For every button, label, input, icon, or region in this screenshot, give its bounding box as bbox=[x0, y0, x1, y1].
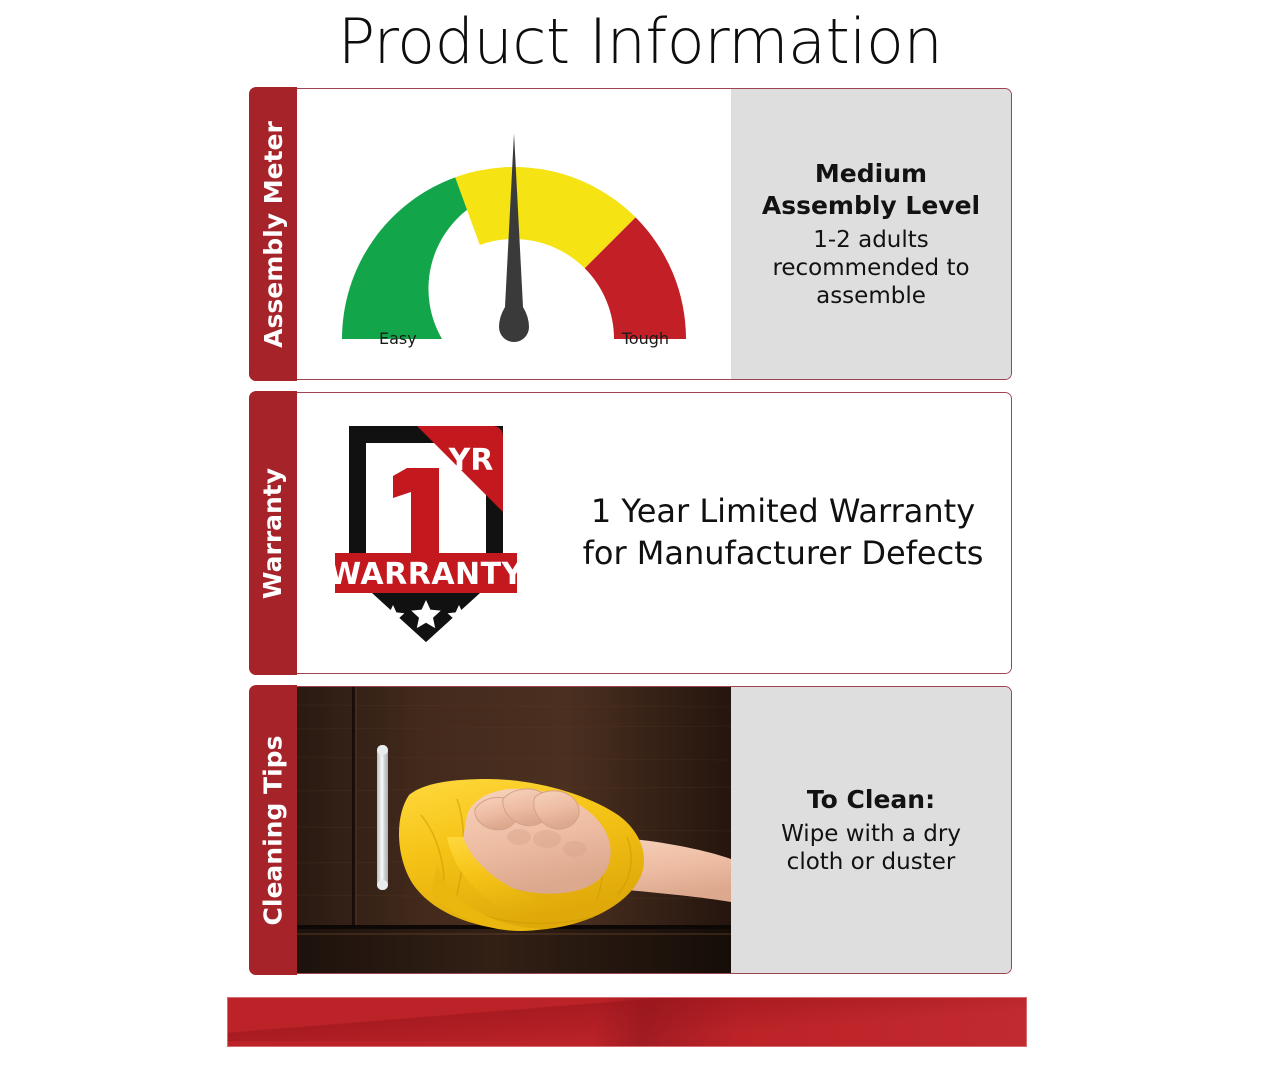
warranty-badge-unit: YR bbox=[448, 443, 494, 478]
assembly-gauge-panel: Easy Tough bbox=[297, 89, 731, 379]
sidebar-tab-assembly-meter: Assembly Meter bbox=[249, 87, 297, 381]
assembly-gauge-chart bbox=[314, 111, 714, 361]
gauge-label-easy: Easy bbox=[379, 329, 417, 348]
cleaning-photo bbox=[297, 687, 731, 973]
cleaning-heading: To Clean: bbox=[807, 784, 935, 816]
assembly-card-body: Easy Tough Medium Assembly Level 1-2 adu… bbox=[297, 89, 1011, 379]
page-title: Product Information bbox=[0, 8, 1280, 76]
warranty-badge-icon: YR WARRANTY bbox=[331, 410, 521, 656]
assembly-level-subtext: 1-2 adults recommended to assemble bbox=[745, 226, 997, 310]
cleaning-card-body: To Clean: Wipe with a dry cloth or duste… bbox=[297, 687, 1011, 973]
cleaning-tips-card: Cleaning Tips bbox=[250, 686, 1012, 974]
assembly-level-heading: Medium Assembly Level bbox=[746, 158, 996, 222]
gauge-label-tough: Tough bbox=[622, 329, 669, 348]
gauge-zone-easy bbox=[342, 177, 473, 339]
sidebar-tab-label: Assembly Meter bbox=[259, 121, 288, 348]
sidebar-tab-label: Cleaning Tips bbox=[259, 735, 288, 925]
warranty-card: Warranty YR WARRANTY bbox=[250, 392, 1012, 674]
warranty-description: 1 Year Limited Warranty for Manufacturer… bbox=[573, 491, 993, 574]
bottom-accent-band bbox=[227, 997, 1027, 1047]
warranty-badge-panel: YR WARRANTY bbox=[297, 393, 555, 673]
cleaning-subtext: Wipe with a dry cloth or duster bbox=[751, 820, 991, 876]
warranty-card-body: YR WARRANTY 1 Year Limited Warranty for … bbox=[297, 393, 1011, 673]
warranty-text-panel: 1 Year Limited Warranty for Manufacturer… bbox=[555, 393, 1011, 673]
sidebar-tab-warranty: Warranty bbox=[249, 391, 297, 675]
cleaning-text-panel: To Clean: Wipe with a dry cloth or duste… bbox=[731, 687, 1011, 973]
cleaning-photo-illustration bbox=[297, 687, 731, 973]
warranty-badge-word: WARRANTY bbox=[331, 557, 521, 592]
sidebar-tab-label: Warranty bbox=[259, 467, 288, 598]
assembly-level-text-panel: Medium Assembly Level 1-2 adults recomme… bbox=[731, 89, 1011, 379]
assembly-meter-card: Assembly Meter Easy Tough Medium Assembl… bbox=[250, 88, 1012, 380]
sidebar-tab-cleaning-tips: Cleaning Tips bbox=[249, 685, 297, 975]
